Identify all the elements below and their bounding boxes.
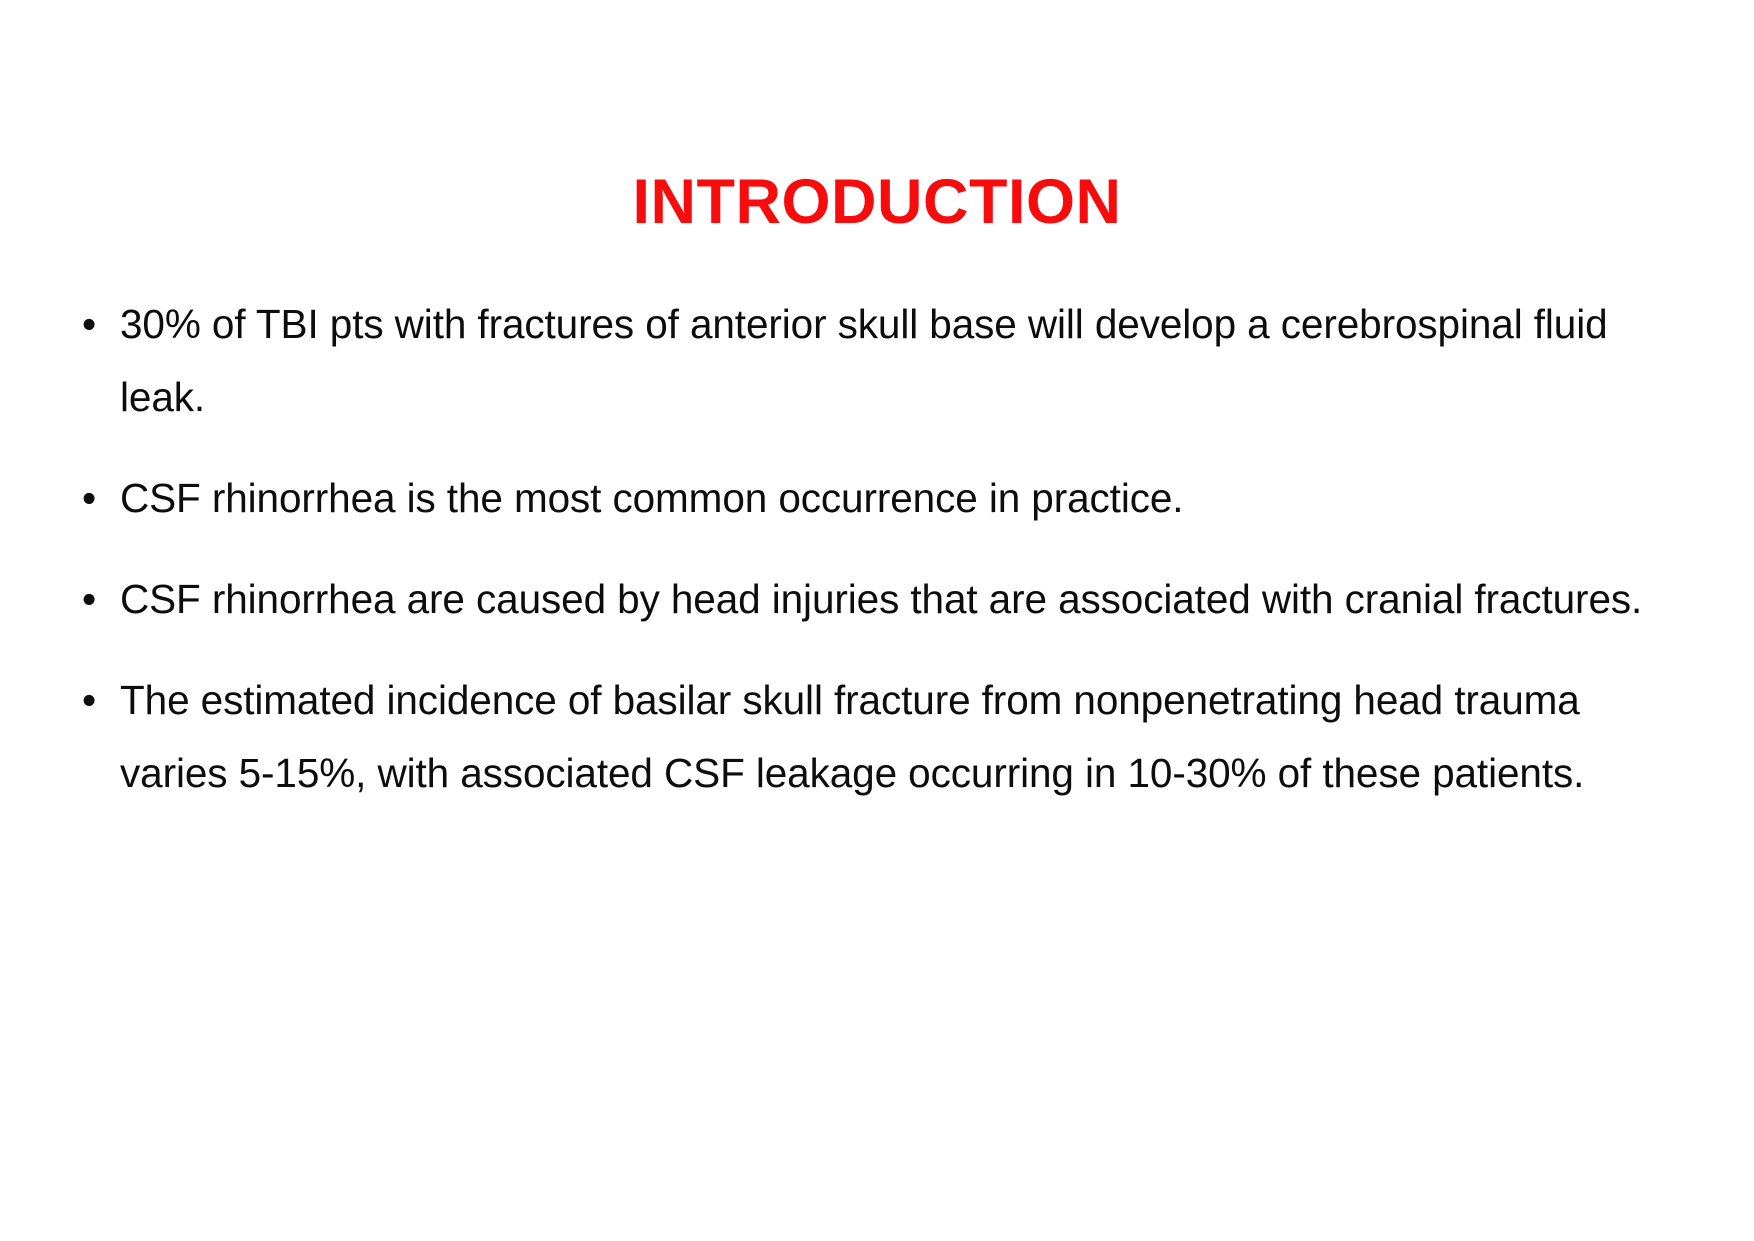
- bullet-point-icon: •: [82, 462, 108, 535]
- list-item: • CSF rhinorrhea are caused by head inju…: [78, 563, 1688, 636]
- list-item-text: 30% of TBI pts with fractures of anterio…: [120, 288, 1688, 434]
- list-item: • 30% of TBI pts with fractures of anter…: [78, 288, 1688, 434]
- list-item: • CSF rhinorrhea is the most common occu…: [78, 462, 1688, 535]
- bullet-point-icon: •: [82, 288, 108, 361]
- bullet-list: • 30% of TBI pts with fractures of anter…: [78, 288, 1688, 810]
- list-item-text: CSF rhinorrhea are caused by head injuri…: [120, 563, 1688, 636]
- list-item: • The estimated incidence of basilar sku…: [78, 664, 1688, 810]
- list-item-text: CSF rhinorrhea is the most common occurr…: [120, 462, 1688, 535]
- list-item-text: The estimated incidence of basilar skull…: [120, 664, 1688, 810]
- page-title: INTRODUCTION: [0, 168, 1754, 237]
- presentation-slide: INTRODUCTION • 30% of TBI pts with fract…: [0, 0, 1754, 1241]
- bullet-point-icon: •: [82, 664, 108, 737]
- bullet-point-icon: •: [82, 563, 108, 636]
